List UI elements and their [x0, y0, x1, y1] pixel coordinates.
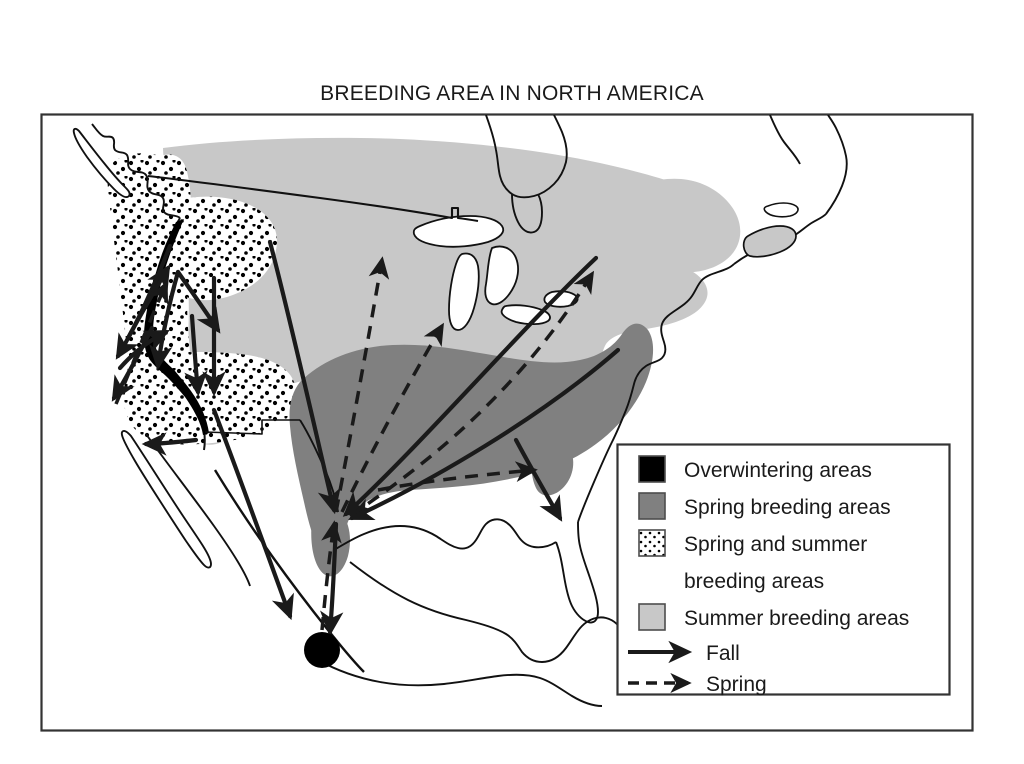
legend-label-spring-breeding: Spring breeding areas	[684, 496, 891, 519]
legend-swatch-spring-breeding-icon	[639, 493, 665, 519]
legend-swatch-summer-breeding-icon	[639, 604, 665, 630]
breeding-area-map-figure: BREEDING AREA IN NORTH AMERICA	[0, 0, 1024, 764]
overwintering-site-marker	[304, 632, 340, 668]
legend-label-fall: Fall	[706, 642, 740, 665]
legend-label-spring-and-summer-line2: breeding areas	[684, 570, 824, 593]
legend-swatch-overwintering-icon	[639, 456, 665, 482]
map-legend: Overwintering areas Spring breeding area…	[618, 445, 950, 697]
legend-label-spring-and-summer-line1: Spring and summer	[684, 533, 867, 556]
page-title: BREEDING AREA IN NORTH AMERICA	[0, 82, 1024, 106]
legend-swatch-spring-and-summer-icon	[639, 530, 665, 556]
north-america-migration-map: Overwintering areas Spring breeding area…	[0, 0, 1024, 764]
legend-label-overwintering: Overwintering areas	[684, 459, 872, 482]
legend-label-spring: Spring	[706, 673, 767, 696]
legend-label-summer-breeding: Summer breeding areas	[684, 607, 909, 630]
island-prince-edward	[764, 203, 798, 217]
